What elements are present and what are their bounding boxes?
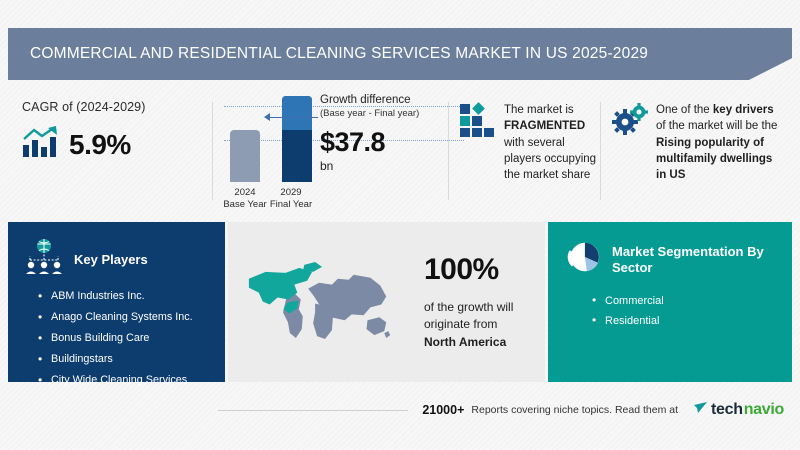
cagr-label: CAGR of (2024-2029) bbox=[22, 100, 212, 114]
region-name: North America bbox=[424, 335, 506, 349]
pie-chart-icon bbox=[564, 238, 602, 281]
list-item: Commercial bbox=[592, 295, 792, 307]
page-title: COMMERCIAL AND RESIDENTIAL CLEANING SERV… bbox=[8, 45, 648, 63]
logo-text-navio: navio bbox=[744, 401, 784, 419]
footer-text: Reports covering niche topics. Read them… bbox=[471, 404, 678, 416]
frag-line-1: The market is bbox=[504, 104, 574, 116]
map-wrapper: 100% of the growth will originate from N… bbox=[228, 222, 545, 382]
growth-heading: Growth difference bbox=[320, 94, 450, 107]
key-drivers-block: One of the key drivers of the market wil… bbox=[612, 102, 794, 184]
growth-unit: bn bbox=[320, 159, 450, 173]
bar-chart-growth-icon bbox=[22, 126, 60, 163]
chart-axis-labels: 2024 Base Year 2029 Final Year bbox=[222, 187, 332, 211]
chart-bars bbox=[222, 96, 332, 182]
bar-final-year bbox=[282, 96, 312, 182]
fragmented-squares-icon bbox=[460, 102, 494, 184]
cagr-value: 5.9% bbox=[69, 129, 131, 161]
drv-line-1: One of the bbox=[656, 104, 713, 116]
divider-1 bbox=[212, 102, 213, 200]
gears-icon bbox=[612, 102, 648, 184]
cagr-block: CAGR of (2024-2029) 5.9% bbox=[22, 100, 212, 163]
infographic-page: COMMERCIAL AND RESIDENTIAL CLEANING SERV… bbox=[0, 0, 800, 450]
drv-bold-1: key drivers bbox=[713, 104, 774, 116]
region-growth-panel: 100% of the growth will originate from N… bbox=[228, 222, 545, 382]
annotation-arrow-head bbox=[264, 113, 270, 121]
growth-percent: 100% bbox=[424, 253, 513, 287]
bar-growth-segment bbox=[282, 96, 312, 130]
list-item: Bonus Building Care bbox=[38, 333, 225, 345]
divider-3 bbox=[600, 102, 601, 200]
key-players-header: Key Players bbox=[8, 222, 225, 281]
panels-row: Key Players ABM Industries Inc. Anago Cl… bbox=[0, 222, 800, 382]
global-network-icon bbox=[24, 238, 64, 281]
segmentation-panel: Market Segmentation By Sector Commercial… bbox=[548, 222, 792, 382]
list-item: Buildingstars bbox=[38, 354, 225, 366]
footer-report-count: 21000+ bbox=[422, 403, 464, 417]
logo-text-tech: tech bbox=[711, 401, 743, 419]
growth-description: of the growth will originate from North … bbox=[424, 299, 513, 351]
segmentation-title: Market Segmentation By Sector bbox=[612, 244, 792, 275]
frag-line-3: players occupying bbox=[504, 153, 596, 165]
growth-subheading: (Base year - Final year) bbox=[320, 108, 450, 119]
top-stats-row: CAGR of (2024-2029) 5.9% bbox=[0, 86, 800, 216]
header-banner: COMMERCIAL AND RESIDENTIAL CLEANING SERV… bbox=[8, 28, 792, 80]
list-item: Residential bbox=[592, 315, 792, 327]
frag-bold-1: FRAGMENTED bbox=[504, 120, 585, 132]
annotation-arrow-line bbox=[268, 117, 318, 118]
bar-label-base: 2024 Base Year bbox=[222, 187, 268, 211]
key-players-list: ABM Industries Inc. Anago Cleaning Syste… bbox=[38, 291, 225, 386]
footer: 21000+ Reports covering niche topics. Re… bbox=[0, 395, 800, 425]
bar-label-final: 2029 Final Year bbox=[268, 187, 314, 211]
growth-value: $37.8 bbox=[320, 127, 450, 158]
frag-line-4: the market share bbox=[504, 169, 590, 181]
technavio-arrow-icon bbox=[694, 401, 708, 420]
key-drivers-text: One of the key drivers of the market wil… bbox=[656, 102, 777, 184]
drv-bold-2: Rising popularity of bbox=[656, 137, 764, 149]
key-players-panel: Key Players ABM Industries Inc. Anago Cl… bbox=[8, 222, 225, 382]
segmentation-list: Commercial Residential bbox=[592, 295, 792, 327]
drv-bold-3: multifamily dwellings bbox=[656, 153, 772, 165]
region-desc-2: originate from bbox=[424, 317, 497, 331]
list-item: ABM Industries Inc. bbox=[38, 291, 225, 303]
list-item: Anago Cleaning Systems Inc. bbox=[38, 312, 225, 324]
footer-divider bbox=[218, 410, 408, 411]
region-text: 100% of the growth will originate from N… bbox=[424, 253, 513, 351]
list-item: City Wide Cleaning Services bbox=[38, 375, 225, 387]
technavio-logo[interactable]: tech navio bbox=[694, 401, 784, 420]
market-size-bar-chart: 2024 Base Year 2029 Final Year bbox=[222, 96, 332, 208]
divider-2 bbox=[448, 102, 449, 200]
segmentation-header: Market Segmentation By Sector bbox=[548, 222, 792, 281]
drv-line-2: of the market will be the bbox=[656, 120, 777, 132]
fragmentation-block: The market is FRAGMENTED with several pl… bbox=[460, 102, 610, 184]
growth-difference-block: Growth difference (Base year - Final yea… bbox=[320, 94, 450, 173]
region-desc-1: of the growth will bbox=[424, 300, 513, 314]
frag-line-2: with several bbox=[504, 137, 565, 149]
key-players-title: Key Players bbox=[74, 252, 148, 268]
drv-bold-4: in US bbox=[656, 169, 685, 181]
fragmentation-text: The market is FRAGMENTED with several pl… bbox=[504, 102, 596, 184]
world-map-icon bbox=[240, 247, 408, 357]
bar-base-year bbox=[230, 130, 260, 182]
